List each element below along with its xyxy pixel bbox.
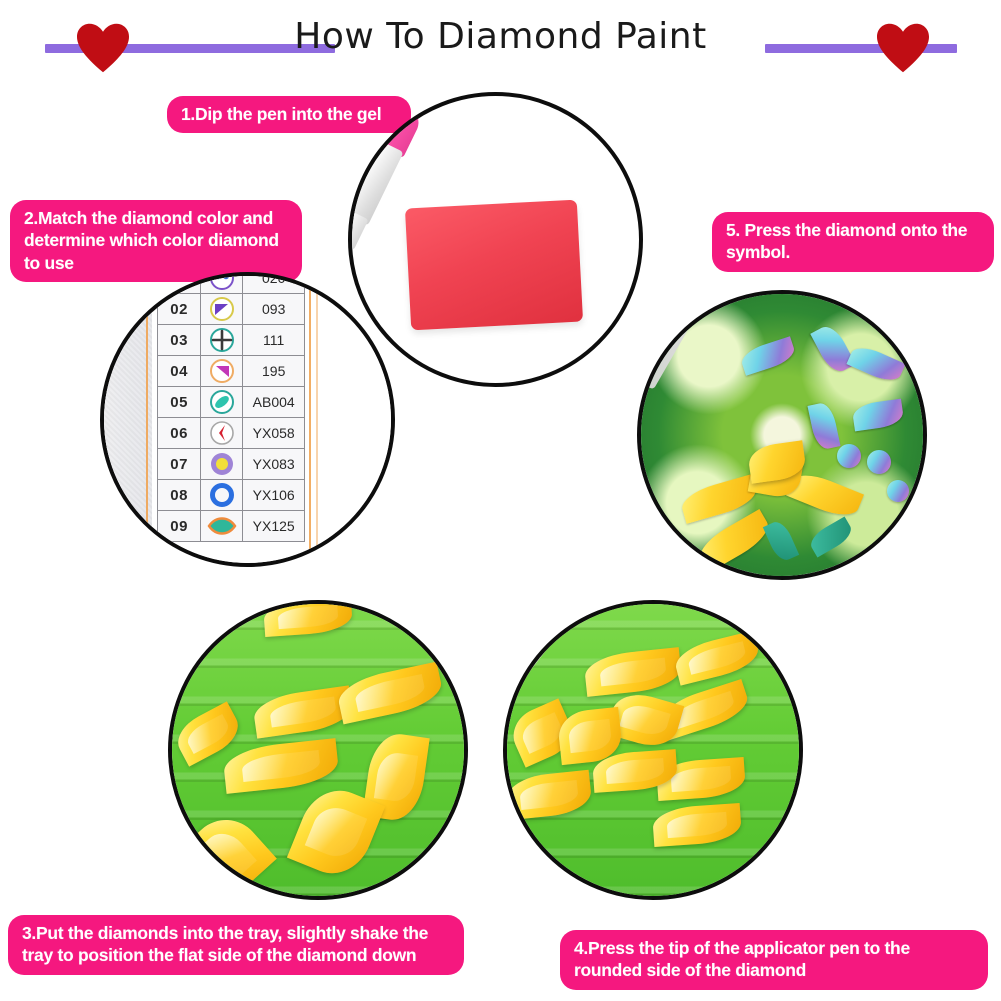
step-4-label: 4.Press the tip of the applicator pen to… (560, 930, 988, 990)
page-title: How To Diamond Paint (0, 16, 1001, 57)
photo-pen-picking-diamond (503, 600, 803, 900)
step-5-label: 5. Press the diamond onto the symbol. (712, 212, 994, 272)
color-chart-code: YX106 (243, 480, 305, 511)
red-chevron-icon (201, 418, 243, 449)
color-chart-number: 09 (158, 511, 201, 542)
infographic-page: How To Diamond Paint 1.Dip the pen into … (0, 0, 1001, 1001)
teal-oval-icon (201, 387, 243, 418)
blue-donut-icon (201, 480, 243, 511)
chart-guide-line (309, 276, 311, 563)
color-chart-row: 04195 (158, 356, 305, 387)
color-chart-code: YX125 (243, 511, 305, 542)
color-chart-number: 06 (158, 418, 201, 449)
pen-barrel (348, 135, 404, 225)
step-2-label: 2.Match the diamond color and determine … (10, 200, 302, 282)
color-chart-row: 09YX125 (158, 511, 305, 542)
color-chart-row: 06YX058 (158, 418, 305, 449)
color-chart-number: 05 (158, 387, 201, 418)
teal-leaf-icon (201, 511, 243, 542)
color-chart-row: 05AB004 (158, 387, 305, 418)
color-chart-row: 07YX083 (158, 449, 305, 480)
color-chart-row: 02093 (158, 294, 305, 325)
color-chart-code: 195 (243, 356, 305, 387)
canvas-fabric-edge (104, 276, 152, 563)
yellow-dot-ring-icon (201, 449, 243, 480)
color-chart-row: 03111 (158, 325, 305, 356)
gel-pad (405, 200, 583, 331)
chart-guide-line (316, 276, 318, 563)
color-chart-row: 01020 (158, 272, 305, 294)
color-chart-number: 08 (158, 480, 201, 511)
header-band: How To Diamond Paint (0, 0, 1001, 90)
chart-guide-line (146, 276, 148, 563)
plus-cross-icon (201, 325, 243, 356)
double-dot-icon (201, 272, 243, 294)
photo-color-chart: 0102002093031110419505AB00406YX05807YX08… (100, 272, 395, 567)
photo-diamonds-in-tray (168, 600, 468, 900)
color-chart-row: 08YX106 (158, 480, 305, 511)
diamond-gem (887, 480, 909, 502)
color-chart-table: 0102002093031110419505AB00406YX05807YX08… (157, 272, 305, 542)
color-chart-code: YX058 (243, 418, 305, 449)
photo-press-onto-symbol (637, 290, 927, 580)
diamond-gem (867, 450, 891, 474)
color-chart-code: AB004 (243, 387, 305, 418)
color-chart-code: 093 (243, 294, 305, 325)
magenta-triangle-icon (201, 356, 243, 387)
color-chart-number: 07 (158, 449, 201, 480)
photo-dip-pen-into-gel (348, 92, 643, 387)
color-chart-code: YX083 (243, 449, 305, 480)
diamond-gem (837, 444, 861, 468)
purple-triangle-icon (201, 294, 243, 325)
color-chart-number: 01 (158, 272, 201, 294)
color-chart-number: 02 (158, 294, 201, 325)
step-3-label: 3.Put the diamonds into the tray, slight… (8, 915, 464, 975)
color-chart-code: 111 (243, 325, 305, 356)
color-chart-number: 04 (158, 356, 201, 387)
color-chart-number: 03 (158, 325, 201, 356)
color-chart-code: 020 (243, 272, 305, 294)
